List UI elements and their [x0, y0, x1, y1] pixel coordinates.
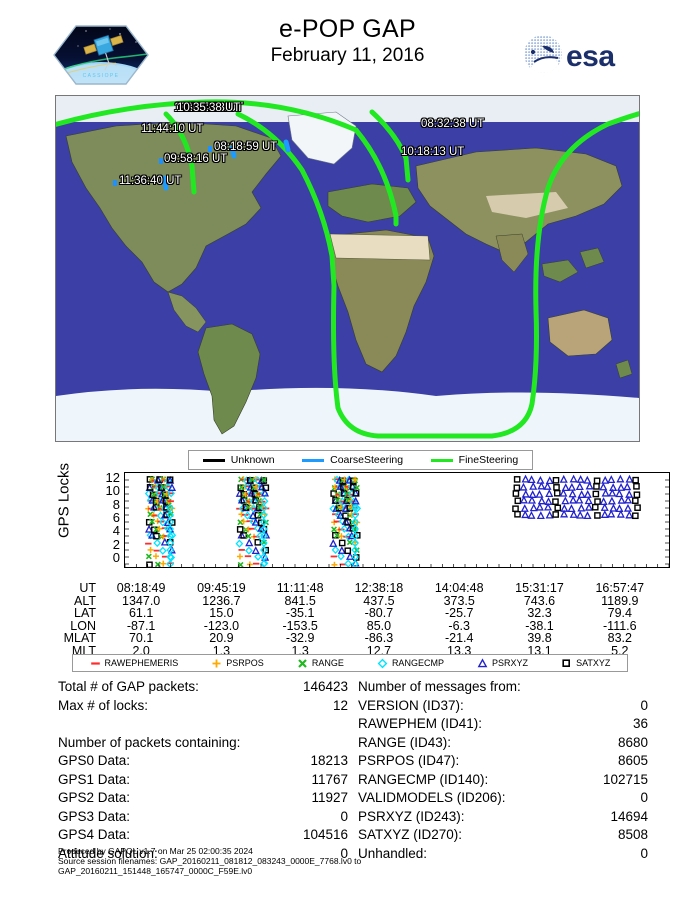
scatter-marker	[547, 478, 553, 484]
scatter-marker	[538, 513, 544, 519]
scatter-marker	[521, 497, 527, 503]
scatter-marker	[347, 540, 352, 545]
scatter-marker	[584, 477, 590, 483]
max-locks-value: 12	[333, 697, 348, 716]
scatter-marker	[544, 483, 550, 489]
dash-marker-icon	[90, 658, 101, 669]
scatter-marker	[634, 484, 639, 489]
scatter-marker	[600, 484, 606, 490]
stat-value: 8605	[618, 752, 648, 771]
ephemeris-row: LAT61.115.0-35.1-80.7-25.732.379.4	[40, 607, 660, 620]
gps-locks-y-ticks: 121086420	[60, 468, 122, 572]
scatter-marker	[561, 511, 567, 517]
stat-label: GPS0 Data:	[58, 752, 130, 771]
scatter-marker	[635, 505, 640, 510]
scatter-marker	[246, 540, 252, 546]
footer-source-files-2: GAP_20160211_151448_165747_0000C_F59E.lv…	[58, 866, 658, 876]
legend-item-psrpos: PSRPOS	[211, 658, 264, 669]
footer-source-files-1: Source session filenames: GAP_20160211_0…	[58, 856, 658, 866]
page-header: CASSIOPE e-POP GAP February 11, 2016	[0, 0, 695, 92]
scatter-marker	[634, 492, 639, 497]
track-start-marker	[208, 146, 212, 152]
scatter-marker	[595, 478, 600, 483]
message-count-row: VERSION (ID37):0	[358, 697, 648, 716]
packet-count-row: GPS1 Data:11767	[58, 771, 348, 790]
scatter-marker	[595, 499, 600, 504]
scatter-marker	[340, 540, 345, 545]
stat-value: 18213	[310, 752, 348, 771]
scatter-marker	[608, 511, 614, 517]
ephemeris-cell: 16:57:47	[580, 582, 660, 595]
scatter-marker	[514, 485, 519, 490]
ephemeris-cell: 08:18:49	[101, 582, 181, 595]
scatter-marker	[618, 511, 624, 517]
scatter-marker	[555, 505, 560, 510]
scatter-marker	[520, 484, 526, 490]
scatter-marker	[530, 483, 536, 489]
stat-value: 11927	[311, 789, 348, 808]
scatter-marker	[515, 512, 520, 517]
ephemeris-cell: -25.7	[419, 607, 499, 620]
legend-item-rangecmp: RANGECMP	[377, 658, 444, 669]
map-legend-label: Unknown	[231, 454, 275, 466]
scatter-marker	[148, 547, 154, 553]
stat-label: SATXYZ (ID270):	[358, 826, 462, 845]
scatter-marker	[595, 513, 600, 518]
stat-label: PSRXYZ (ID243):	[358, 808, 465, 827]
scatter-marker	[255, 553, 261, 559]
stat-value: 14694	[610, 808, 648, 827]
gps-locks-y-tick: 4	[60, 526, 120, 536]
message-count-row: RAWEPHEM (ID41):36	[358, 715, 648, 734]
stat-value: 36	[633, 715, 648, 734]
packet-count-row: GPS2 Data:11927	[58, 789, 348, 808]
scatter-marker	[238, 562, 243, 567]
scatter-marker	[515, 477, 520, 482]
scatter-marker	[616, 506, 622, 512]
scatter-marker	[571, 511, 577, 517]
plus-marker-icon	[211, 658, 222, 669]
scatter-marker	[553, 499, 558, 504]
legend-label: PSRXYZ	[492, 658, 528, 668]
ephemeris-row: UT08:18:4909:45:1911:11:4812:38:1814:04:…	[40, 582, 660, 595]
scatter-marker	[560, 490, 566, 496]
ephemeris-cell: 11:11:48	[262, 582, 339, 595]
message-type-legend: RAWEPHEMERISPSRPOSRANGERANGECMPPSRXYZSAT…	[72, 654, 628, 672]
stat-label: RAWEPHEM (ID41):	[358, 715, 482, 734]
message-statistics-column: Number of messages from: VERSION (ID37):…	[358, 678, 648, 863]
map-legend-item-finesteering: FineSteering	[431, 454, 519, 466]
gps-locks-scatter	[125, 473, 669, 567]
map-ut-label: 08:32:38 UT	[421, 118, 484, 130]
scatter-marker	[332, 527, 337, 532]
legend-item-rawephemeris: RAWEPHEMERIS	[90, 658, 179, 669]
gps-locks-chart: GPS Locks 121086420	[40, 468, 660, 580]
scatter-marker	[626, 491, 632, 497]
gps-locks-y-tick: 6	[60, 513, 120, 523]
scatter-marker	[585, 491, 591, 497]
ephemeris-cell: 14:04:48	[419, 582, 499, 595]
gps-locks-y-tick: 8	[60, 500, 120, 510]
scatter-marker	[587, 483, 593, 489]
gps-locks-y-tick: 2	[60, 540, 120, 550]
cross-marker-icon	[297, 658, 308, 669]
scatter-marker	[625, 497, 631, 503]
scatter-marker	[568, 506, 574, 512]
scatter-marker	[553, 478, 558, 483]
legend-item-psrxyz: PSRXYZ	[477, 658, 528, 669]
ephemeris-cell: 61.1	[101, 607, 181, 620]
scatter-marker	[553, 512, 558, 517]
ephemeris-cell: -35.1	[262, 607, 339, 620]
stat-value: 11767	[311, 771, 348, 790]
stat-label: RANGECMP (ID140):	[358, 771, 488, 790]
packet-statistics-column: Total # of GAP packets: 146423 Max # of …	[58, 678, 348, 863]
scatter-marker	[160, 548, 166, 554]
message-count-row: PSRXYZ (ID243):14694	[358, 808, 648, 827]
scatter-marker	[528, 512, 534, 518]
legend-label: RANGE	[312, 658, 344, 668]
ephemeris-cell: 32.3	[499, 607, 579, 620]
scatter-marker	[146, 554, 151, 559]
scatter-marker	[627, 476, 633, 482]
message-count-row: RANGE (ID43):8680	[358, 734, 648, 753]
scatter-marker	[602, 477, 608, 483]
scatter-marker	[515, 498, 520, 503]
stat-label: PSRPOS (ID47):	[358, 752, 459, 771]
stat-label: VALIDMODELS (ID206):	[358, 789, 506, 808]
scatter-marker	[586, 504, 592, 510]
scatter-marker	[586, 498, 592, 504]
world-map	[56, 96, 639, 441]
packets-containing-heading: Number of packets containing:	[58, 734, 348, 753]
footer: Produced by GAPQL v1.7 on Mar 25 02:00:3…	[58, 846, 658, 876]
scatter-marker	[571, 476, 577, 482]
scatter-marker	[626, 512, 632, 518]
total-packets-value: 146423	[303, 678, 348, 697]
scatter-marker	[569, 484, 575, 490]
scatter-marker	[160, 561, 166, 567]
scatter-marker	[154, 540, 160, 546]
scatter-marker	[601, 499, 607, 505]
scatter-marker	[570, 491, 576, 497]
track-start-marker	[159, 158, 163, 164]
scatter-marker	[513, 506, 518, 511]
scatter-marker	[529, 477, 535, 483]
map-legend-label: FineSteering	[459, 454, 519, 466]
scatter-marker	[570, 497, 576, 503]
map-legend-item-coarsesteering: CoarseSteering	[302, 454, 403, 466]
ephemeris-table: UT08:18:4909:45:1911:11:4812:38:1814:04:…	[40, 582, 660, 658]
stat-value: 104516	[303, 826, 348, 845]
map-ut-label: 10:35:38 UT	[177, 102, 240, 114]
stat-value: 102715	[603, 771, 648, 790]
gps-locks-y-tick: 12	[60, 473, 120, 483]
ephemeris-cell: 79.4	[580, 607, 660, 620]
ephemeris-grid: UT08:18:4909:45:1911:11:4812:38:1814:04:…	[40, 582, 660, 658]
scatter-marker	[593, 491, 598, 496]
messages-from-heading: Number of messages from:	[358, 678, 648, 697]
esa-wordmark: esa	[566, 40, 615, 73]
stat-label: GPS4 Data:	[58, 826, 130, 845]
line-swatch-icon	[302, 459, 324, 462]
legend-item-satxyz: SATXYZ	[561, 658, 610, 669]
packet-count-row: GPS3 Data:0	[58, 808, 348, 827]
map-ut-label: 11:44:10 UT	[141, 123, 203, 135]
scatter-marker	[584, 513, 590, 519]
scatter-marker	[561, 476, 567, 482]
max-locks-row: Max # of locks: 12	[58, 697, 348, 716]
ephemeris-cell: 15:31:17	[499, 582, 579, 595]
gps-locks-y-tick: 10	[60, 486, 120, 496]
scatter-marker	[330, 540, 336, 546]
scatter-marker	[153, 553, 159, 559]
statistics-section: Total # of GAP packets: 146423 Max # of …	[0, 678, 695, 843]
scatter-marker	[609, 498, 615, 504]
line-swatch-icon	[431, 459, 453, 462]
scatter-marker	[155, 562, 160, 567]
scatter-marker	[529, 497, 535, 503]
legend-label: PSRPOS	[226, 658, 264, 668]
scatter-marker	[530, 492, 536, 498]
scatter-marker	[547, 512, 553, 518]
ephemeris-cell: 09:45:19	[181, 582, 261, 595]
scatter-marker	[546, 499, 552, 505]
scatter-marker	[522, 512, 528, 518]
scatter-marker	[563, 485, 569, 491]
scatter-marker	[579, 492, 585, 498]
scatter-marker	[537, 504, 543, 510]
legend-label: RANGECMP	[392, 658, 444, 668]
scatter-marker	[333, 547, 339, 553]
scatter-marker	[624, 484, 630, 490]
scatter-marker	[539, 498, 545, 504]
scatter-marker	[537, 477, 543, 483]
scatter-marker	[236, 540, 242, 546]
total-packets-label: Total # of GAP packets:	[58, 678, 199, 697]
scatter-marker	[331, 562, 337, 567]
scatter-marker	[562, 498, 568, 504]
scatter-marker	[633, 478, 638, 483]
track-start-marker	[113, 180, 117, 186]
stat-value: 8680	[618, 734, 648, 753]
scatter-marker	[345, 560, 351, 566]
packet-count-row: GPS4 Data:104516	[58, 826, 348, 845]
scatter-marker	[578, 476, 584, 482]
scatter-marker	[253, 548, 259, 554]
map-ut-label: 08:18:59 UT	[214, 141, 277, 153]
diamond-marker-icon	[377, 658, 388, 669]
scatter-marker	[238, 520, 243, 525]
scatter-marker	[555, 491, 560, 496]
scatter-marker	[610, 505, 616, 511]
scatter-marker	[617, 476, 623, 482]
scatter-marker	[633, 513, 638, 518]
scatter-marker	[531, 505, 537, 511]
total-packets-row: Total # of GAP packets: 146423	[58, 678, 348, 697]
line-swatch-icon	[203, 459, 225, 462]
message-count-row: PSRPOS (ID47):8605	[358, 752, 648, 771]
map-legend: Unknown CoarseSteering FineSteering	[188, 450, 533, 470]
scatter-marker	[522, 505, 528, 511]
scatter-marker	[538, 483, 544, 489]
ephemeris-row-key: UT	[40, 582, 101, 595]
scatter-marker	[345, 548, 350, 553]
map-ut-label: 09:58:16 UT	[164, 153, 227, 165]
scatter-marker	[603, 490, 609, 496]
esa-logo: esa	[522, 33, 634, 77]
stat-label: GPS2 Data:	[58, 789, 130, 808]
stats-spacer	[58, 715, 348, 734]
scatter-marker	[523, 476, 529, 482]
scatter-marker	[554, 485, 559, 490]
map-legend-label: CoarseSteering	[330, 454, 403, 466]
scatter-marker	[339, 547, 345, 553]
scatter-marker	[593, 505, 598, 510]
message-count-row: RANGECMP (ID140):102715	[358, 771, 648, 790]
footer-produced-by: Produced by GAPQL v1.7 on Mar 25 02:00:3…	[58, 846, 658, 856]
world-map-panel: 11:57:47 UT 08:57:43 UT 10:35:38 UT 11:4…	[55, 95, 640, 442]
stat-value: 0	[640, 697, 648, 716]
scatter-marker	[610, 485, 616, 491]
scatter-marker	[536, 491, 542, 497]
scatter-marker	[618, 484, 624, 490]
gps-locks-plot-area	[124, 472, 670, 568]
scatter-marker	[238, 527, 243, 532]
scatter-marker	[633, 498, 638, 503]
max-locks-label: Max # of locks:	[58, 697, 148, 716]
scatter-marker	[625, 505, 631, 511]
stat-label: RANGE (ID43):	[358, 734, 451, 753]
scatter-marker	[338, 553, 344, 559]
scatter-marker	[577, 512, 583, 518]
message-count-row: SATXYZ (ID270):8508	[358, 826, 648, 845]
ephemeris-row-key: LAT	[40, 607, 101, 620]
square-marker-icon	[561, 658, 572, 669]
scatter-marker	[255, 540, 260, 545]
scatter-marker	[616, 491, 622, 497]
packet-count-row: GPS0 Data:18213	[58, 752, 348, 771]
scatter-marker	[594, 484, 599, 489]
scatter-marker	[602, 504, 608, 510]
ephemeris-cell: 12:38:18	[339, 582, 419, 595]
triangle-marker-icon	[477, 658, 488, 669]
legend-label: RAWEPHEMERIS	[105, 658, 179, 668]
scatter-marker	[237, 553, 243, 559]
stat-value: 0	[640, 789, 648, 808]
gps-locks-y-tick: 0	[60, 553, 120, 563]
scatter-marker	[602, 511, 608, 517]
legend-label: SATXYZ	[576, 658, 610, 668]
scatter-marker	[619, 497, 625, 503]
stat-label: GPS3 Data:	[58, 808, 130, 827]
stat-value: 8508	[618, 826, 648, 845]
stat-label: GPS1 Data:	[58, 771, 130, 790]
scatter-marker	[577, 484, 583, 490]
scatter-marker	[608, 477, 614, 483]
stat-label: VERSION (ID37):	[358, 697, 464, 716]
scatter-marker	[578, 505, 584, 511]
scatter-marker	[246, 547, 252, 553]
scatter-marker	[523, 491, 529, 497]
scatter-marker	[513, 491, 518, 496]
scatter-marker	[546, 491, 552, 497]
mission-patch-label: CASSIOPE	[83, 73, 120, 79]
ephemeris-cell: 15.0	[181, 607, 261, 620]
message-count-row: VALIDMODELS (ID206):0	[358, 789, 648, 808]
map-ut-label: 10:18:13 UT	[401, 146, 464, 158]
ephemeris-cell: -80.7	[339, 607, 419, 620]
map-legend-item-unknown: Unknown	[203, 454, 275, 466]
legend-item-range: RANGE	[297, 658, 344, 669]
map-ut-label: 11:36:40 UT	[119, 175, 181, 187]
stat-value: 0	[340, 808, 348, 827]
